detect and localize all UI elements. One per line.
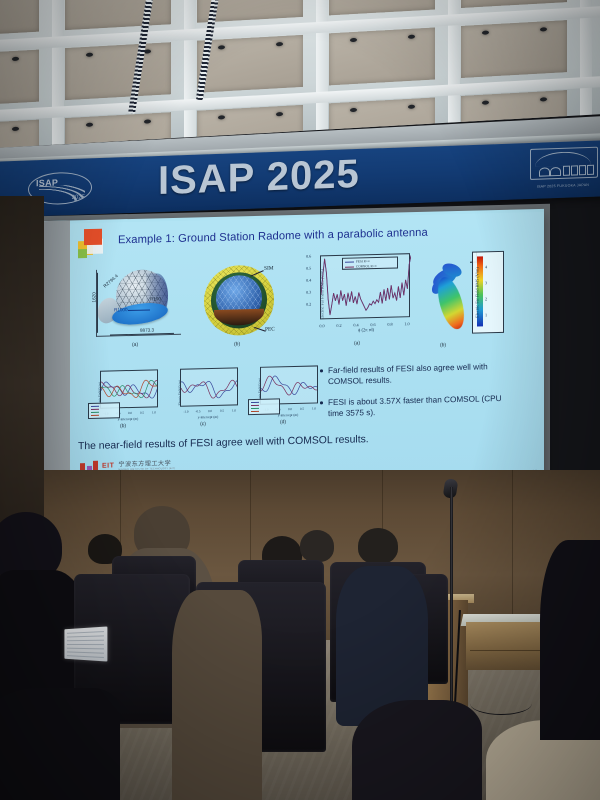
figure-caption-b: (b) [234,341,240,347]
legend-series-1: COMSOL R=∞ [356,264,377,269]
sp2-xtick-3: 0.5 [300,407,304,411]
bullet-item-1: FESI is about 3.57X faster than COMSOL (… [318,393,508,420]
sp2-xtick-2: 0.0 [288,407,292,411]
colorbar-tick-1: 3 [485,280,487,285]
banner-title: ISAP 2025 [158,152,360,204]
near-field-plot-c: Electric Field (V/m) -1.0 -0.5 0.0 0.5 1… [166,365,240,419]
bullet-list: Far-field results of FESI also agree wel… [318,361,508,430]
powerpoint-color-mark-icon [78,228,110,261]
audience-head-4 [300,530,334,562]
dimension-base: 8873.3 [140,327,154,332]
ytick-1: 0.5 [306,266,311,271]
sp1-xtick-3: 0.5 [220,409,224,413]
ytick-0: 0.6 [306,254,311,259]
near-field-plot-b: Electric Field (V/m) -1.0 -0.5 0.0 0.5 1… [86,367,160,421]
foreground-bag [352,700,482,800]
colorbar-tick-2: 2 [485,296,487,301]
far-field-line-chart: Electric Far Field RMS (V/m) 0.6 0.5 0.4… [298,249,416,338]
label-sim: SIM [264,265,274,271]
chart-caption-a: (a) [298,339,416,348]
audience-shoulders [172,590,262,800]
sp0-xtick-4: 1.0 [152,410,156,414]
floor-cable [470,692,532,715]
main-lobe-shape [433,274,469,332]
presentation-slide: Example 1: Ground Station Radome with a … [70,212,544,489]
sp1-caption: (c) [166,420,240,428]
near-field-plot-d: Electric Field (V/m) -1.0 -0.5 0.0 0.5 1… [246,363,320,417]
sp1-xtick-4: 1.0 [232,408,236,412]
sp0-xtick-3: 0.5 [140,411,144,415]
fukuoka-logo-icon: ISAP 2025 FUKUOKA JAPAN [530,147,598,189]
audience-laptop [64,626,107,661]
audience-head-5 [358,528,398,564]
sp0-caption: (b) [86,422,160,430]
foreground-figure [0,688,120,800]
sp1-xtick-0: -1.0 [183,410,188,414]
dimension-r190: R190 [150,296,161,301]
slide-title: Example 1: Ground Station Radome with a … [118,227,428,247]
sp2-xtick-4: 1.0 [312,406,316,410]
sp1-xtick-1: -0.5 [195,409,200,413]
figure-caption-a: (a) [132,342,138,348]
isap-emblem-year: 2025 [72,195,85,201]
radome-geometry-figure: 1620 R1000 R190 8873.3 R2794.4 (a) [88,263,188,347]
ytick-2: 0.4 [306,278,311,283]
chart-xlabel: ϕ (2π rd) [316,326,416,333]
label-pec: PEC [265,326,275,332]
dimension-height: 1620 [92,292,97,302]
radome-cross-section-figure: SIM PEC (b) [192,258,288,348]
colorbar-tick-3: 1 [485,312,487,317]
legend-series-0: FESI R=∞ [356,259,370,263]
right-edge-figure [540,540,600,740]
projection-screen: Example 1: Ground Station Radome with a … [44,209,544,513]
far-field-3d-pattern: 4 3 2 1 Electric Far Field RMS (V/m) (b) [422,247,494,339]
colorbar: 4 3 2 1 Electric Far Field RMS (V/m) [472,251,504,334]
bullet-item-0: Far-field results of FESI also agree wel… [318,361,508,388]
eit-acronym: EIT [102,462,114,469]
colorbar-tick-0: 4 [485,264,487,269]
dimension-r1000: R1000 [114,307,128,312]
sp0-legend [88,402,120,419]
sp1-xlabel: y-intercept (m) [176,414,240,420]
ytick-3: 0.3 [306,290,311,295]
conference-room-photo: ISAP 2025 ISAP 2025 ISAP 2025 FUKUOKA JA… [0,0,600,800]
sp2-caption: (d) [246,418,320,426]
chart-legend: FESI R=∞ COMSOL R=∞ [342,256,398,269]
sp1-xtick-2: 0.0 [208,409,212,413]
ytick-4: 0.2 [306,302,311,307]
colorbar-label: Electric Far Field RMS (V/m) [474,267,479,318]
slide-conclusion-text: The near-field results of FESI agree wel… [78,434,369,452]
sp0-xtick-2: 0.0 [128,411,132,415]
fukuoka-logo-caption: ISAP 2025 FUKUOKA JAPAN [530,183,596,189]
figure-caption-3d: (b) [418,342,468,349]
sp2-legend [248,398,280,415]
